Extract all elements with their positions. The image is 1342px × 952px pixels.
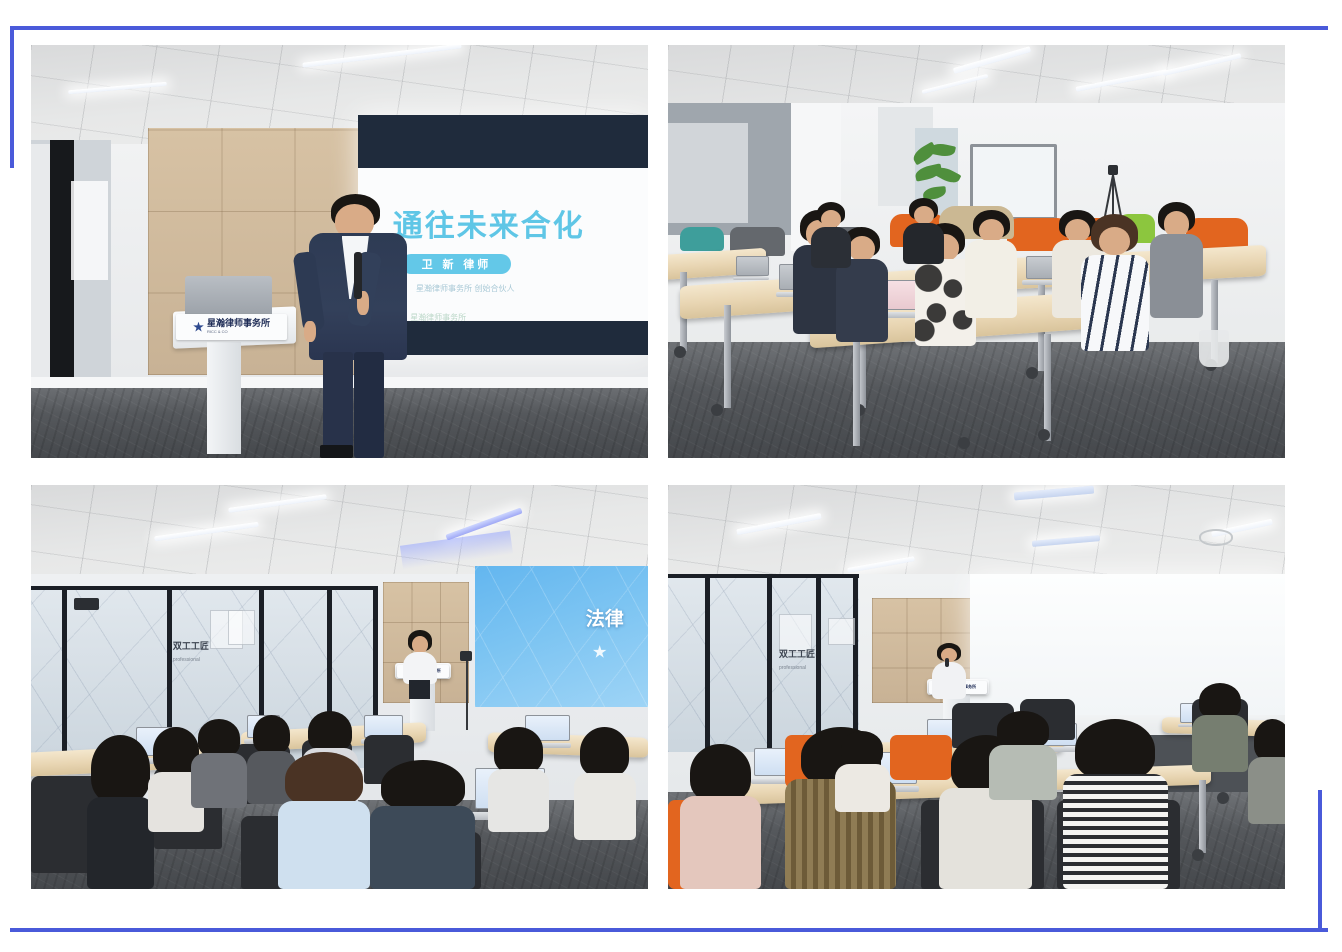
photo-3-audience-9	[574, 727, 636, 840]
corner-bracket-top-left	[10, 26, 14, 168]
photo-4-glass-poster-cn: 双工工匠	[779, 647, 815, 660]
photo-4-audience-3	[835, 731, 891, 812]
photo-4-glass-poster-en: professional	[779, 665, 806, 671]
photo-1[interactable]: 通往未来合化 卫 新 律师 星瀚律师事务所 创始合伙人 星瀚律师事务所 星瀚律师…	[31, 45, 648, 458]
top-rule	[10, 26, 1328, 30]
photo-3-projection-screen: 法律	[475, 566, 648, 707]
photo-3-glass-poster-b	[228, 610, 255, 644]
photo-3-light-stand	[457, 651, 476, 728]
photo-2-bag	[1199, 330, 1230, 367]
photo-4-audience-5	[989, 711, 1057, 800]
photo-2-laptop-4	[736, 256, 767, 281]
photo-4-microphone	[945, 658, 949, 667]
photo-1-speaker	[290, 194, 426, 458]
page-root: 通往未来合化 卫 新 律师 星瀚律师事务所 创始合伙人 星瀚律师事务所 星瀚律师…	[0, 0, 1342, 952]
photo-3-audience-6	[278, 752, 371, 889]
bottom-rule	[10, 928, 1328, 932]
photo-1-microphone	[354, 252, 362, 300]
photo-4-glass-poster-b	[828, 618, 855, 644]
firm-star-icon	[193, 322, 204, 333]
corner-bracket-bottom-right	[1318, 790, 1322, 932]
photo-4-audience-7	[1192, 683, 1248, 772]
photo-2-attendee-7	[1149, 202, 1205, 318]
photo-1-plaque-romanized: RICC & CO	[207, 330, 228, 334]
photo-3-presenter	[401, 630, 438, 699]
photo-2-attendee-8	[810, 202, 853, 268]
photo-4-audience-1	[680, 744, 760, 889]
photo-2[interactable]	[668, 45, 1285, 458]
photo-3-audience-1	[87, 735, 155, 889]
photo-3-audience-3	[191, 719, 247, 808]
photo-3-glass-poster-en: professional	[173, 657, 200, 663]
photo-3[interactable]: 双工工匠 professional 法律 星瀚律师事务所	[31, 485, 648, 889]
photo-2-attendee-4	[964, 210, 1020, 317]
photo-1-plaque-name: 星瀚律师事务所	[207, 320, 270, 329]
photo-gallery-grid: 通往未来合化 卫 新 律师 星瀚律师事务所 创始合伙人 星瀚律师事务所 星瀚律师…	[31, 45, 1285, 889]
photo-4-audience-6	[1063, 719, 1168, 889]
photo-3-glass-poster-cn: 双工工匠	[173, 639, 209, 652]
photo-4-audience-8	[1248, 719, 1285, 824]
photo-2-attendee-6	[1081, 214, 1149, 350]
photo-1-slide-subtitle: 星瀚律师事务所 创始合伙人	[416, 283, 515, 294]
photo-3-audience-8	[488, 727, 550, 832]
photo-4[interactable]: 双工工匠 professional 星瀚律师事务所	[668, 485, 1285, 889]
photo-3-audience-7	[370, 760, 475, 889]
photo-4-presenter	[930, 643, 967, 700]
photo-3-slide-title: 法律	[586, 604, 624, 631]
photo-1-lectern-plaque: 星瀚律师事务所 RICC & CO	[176, 314, 287, 340]
photo-2-attendee-9	[902, 198, 945, 264]
